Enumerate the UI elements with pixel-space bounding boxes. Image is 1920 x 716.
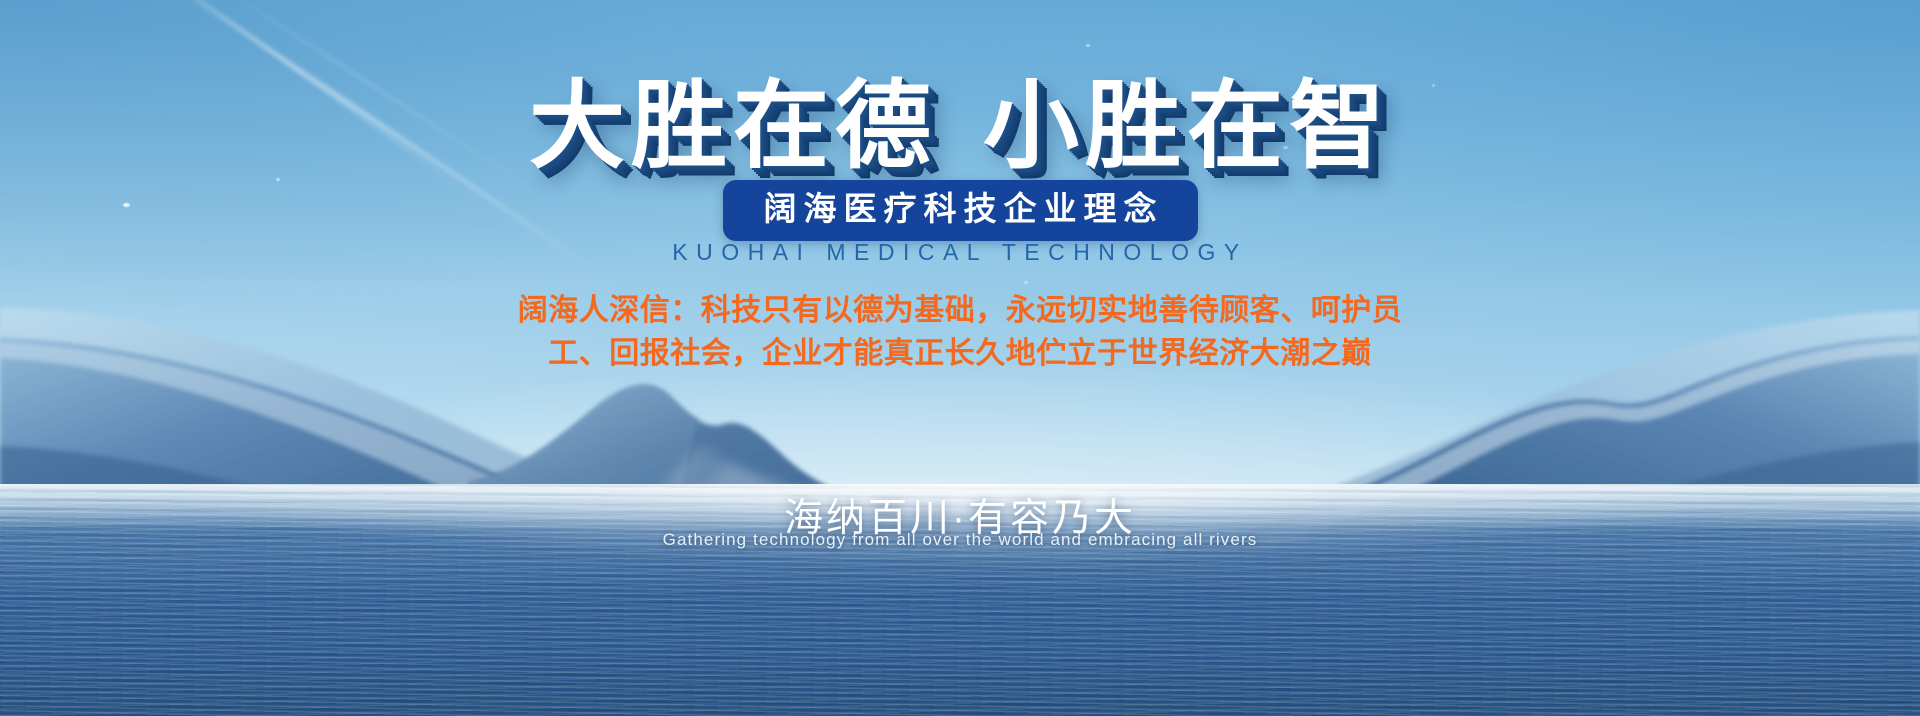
statement-line-1: 阔海人深信：科技只有以德为基础，永远切实地善待顾客、呵护员 xyxy=(0,290,1920,333)
main-headline: 大胜在德小胜在智 xyxy=(0,48,1920,187)
kuohai-philosophy-banner: 大胜在德小胜在智 阔海医疗科技企业理念 KUOHAI MEDICAL TECHN… xyxy=(0,0,1920,716)
statement-line-2: 工、回报社会，企业才能真正长久地伫立于世界经济大潮之巅 xyxy=(0,333,1920,376)
philosophy-statement: 阔海人深信：科技只有以德为基础，永远切实地善待顾客、呵护员 工、回报社会，企业才… xyxy=(0,290,1920,375)
headline-right: 小胜在智 xyxy=(983,73,1391,180)
motto-english: Gathering technology from all over the w… xyxy=(0,530,1920,550)
company-english-name: KUOHAI MEDICAL TECHNOLOGY xyxy=(0,239,1920,266)
banner-content: 大胜在德小胜在智 阔海医疗科技企业理念 KUOHAI MEDICAL TECHN… xyxy=(0,0,1920,716)
philosophy-badge-wrap: 阔海医疗科技企业理念 xyxy=(0,180,1920,241)
headline-left: 大胜在德 xyxy=(529,73,937,180)
philosophy-badge: 阔海医疗科技企业理念 xyxy=(723,180,1198,241)
